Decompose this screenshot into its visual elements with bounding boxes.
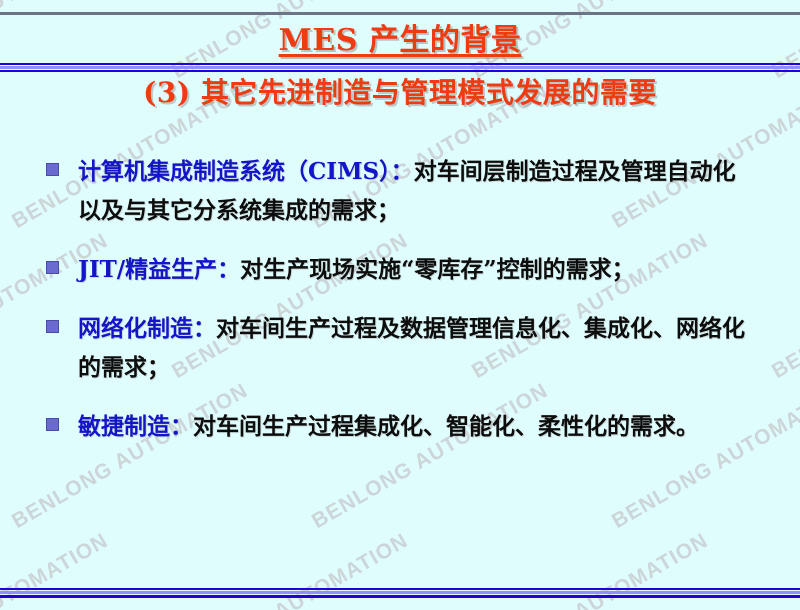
bottom-divider-line-1 — [0, 588, 800, 590]
title-divider-line-1 — [0, 63, 800, 65]
list-item-text: JIT/精益生产：对生产现场实施“零库存”控制的需求； — [78, 250, 758, 289]
list-item-text: 计算机集成制造系统（CIMS）：对车间层制造过程及管理自动化以及与其它分系统集成… — [78, 152, 758, 230]
list-item-text: 网络化制造：对车间生产过程及数据管理信息化、集成化、网络化的需求； — [78, 309, 758, 387]
square-bullet-icon — [46, 320, 59, 333]
bottom-divider-line-2 — [0, 591, 800, 594]
page-subtitle: (3) 其它先进制造与管理模式发展的需要 — [143, 76, 657, 110]
list-item-lead: 网络化制造 — [78, 315, 193, 342]
bottom-divider-line-3 — [0, 595, 800, 598]
list-item: 计算机集成制造系统（CIMS）：对车间层制造过程及管理自动化以及与其它分系统集成… — [46, 152, 758, 230]
square-bullet-icon — [46, 418, 59, 431]
watermark-text: BENLONG AUTOMATION — [768, 229, 800, 384]
list-item: 敏捷制造：对车间生产过程集成化、智能化、柔性化的需求。 — [46, 407, 758, 446]
list-item-lead: 计算机集成制造系统（CIMS） — [78, 158, 391, 185]
list-item: JIT/精益生产：对生产现场实施“零库存”控制的需求； — [46, 250, 758, 289]
bottom-divider-rule — [0, 588, 800, 598]
square-bullet-icon — [46, 261, 59, 274]
page-title: MES 产生的背景 — [279, 23, 522, 59]
title-divider-line-3 — [0, 70, 800, 72]
list-item-separator: ： — [170, 413, 193, 440]
list-item-separator: ： — [391, 158, 414, 185]
list-item-body: 对生产现场实施“零库存”控制的需求； — [240, 256, 634, 283]
list-item: 网络化制造：对车间生产过程及数据管理信息化、集成化、网络化的需求； — [46, 309, 758, 387]
list-item-lead: JIT/精益生产 — [78, 256, 217, 283]
list-item-text: 敏捷制造：对车间生产过程集成化、智能化、柔性化的需求。 — [78, 407, 758, 446]
list-item-separator: ： — [217, 256, 240, 283]
list-item-separator: ： — [193, 315, 216, 342]
top-divider-rule — [0, 12, 800, 15]
title-block: MES 产生的背景 — [0, 23, 800, 59]
title-divider-line-2 — [0, 66, 800, 69]
title-divider-rule — [0, 63, 800, 72]
subtitle-block: (3) 其它先进制造与管理模式发展的需要 — [0, 76, 800, 110]
slide-canvas: BENLONG AUTOMATIONBENLONG AUTOMATIONBENL… — [0, 0, 800, 610]
list-item-lead: 敏捷制造 — [78, 413, 170, 440]
bullet-list: 计算机集成制造系统（CIMS）：对车间层制造过程及管理自动化以及与其它分系统集成… — [46, 152, 758, 466]
square-bullet-icon — [46, 163, 59, 176]
list-item-body: 对车间生产过程集成化、智能化、柔性化的需求。 — [193, 413, 699, 440]
